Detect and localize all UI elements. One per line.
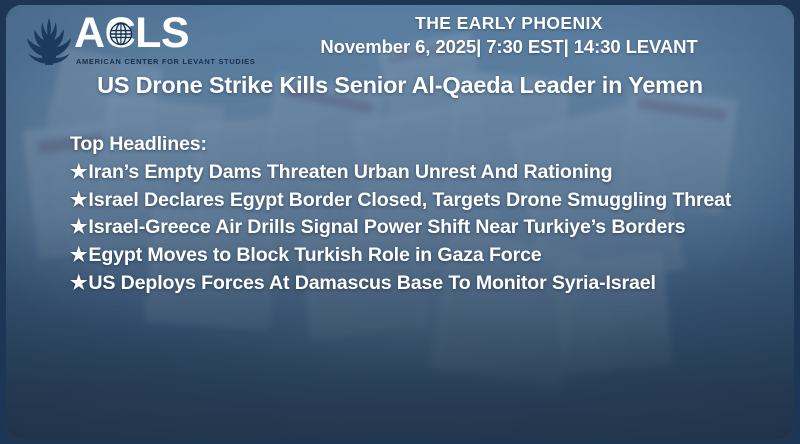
logo-letter-c-wrap: C xyxy=(105,12,136,55)
acls-tagline: AMERICAN CENTER FOR LEVANT STUDIES xyxy=(76,57,256,66)
headline-item[interactable]: ★Iran’s Empty Dams Threaten Urban Unrest… xyxy=(70,159,756,187)
phoenix-icon xyxy=(22,15,76,65)
headline-item[interactable]: ★Israel Declares Egypt Border Closed, Ta… xyxy=(70,187,756,215)
headline-item[interactable]: ★Israel-Greece Air Drills Signal Power S… xyxy=(70,214,756,242)
logo-letter-l: L xyxy=(135,9,161,57)
top-headlines-label: Top Headlines: xyxy=(70,131,756,159)
star-icon: ★ xyxy=(70,270,87,298)
top-headlines-list: Top Headlines: ★Iran’s Empty Dams Threat… xyxy=(70,131,756,298)
globe-icon xyxy=(109,23,132,46)
lead-headline: US Drone Strike Kills Senior Al-Qaeda Le… xyxy=(76,71,724,100)
star-icon: ★ xyxy=(70,214,87,242)
slide-frame: ACLS AMERICAN CENTER FOR LEVANT STUDIES … xyxy=(0,0,800,444)
star-icon: ★ xyxy=(70,187,87,215)
acls-wordmark: ACLS xyxy=(74,12,189,55)
headline-item-text: US Deploys Forces At Damascus Base To Mo… xyxy=(88,272,655,294)
headline-item[interactable]: ★US Deploys Forces At Damascus Base To M… xyxy=(70,270,756,298)
slide-canvas: ACLS AMERICAN CENTER FOR LEVANT STUDIES … xyxy=(6,5,794,440)
star-icon: ★ xyxy=(70,159,87,187)
headline-item[interactable]: ★Egypt Moves to Block Turkish Role in Ga… xyxy=(70,242,756,270)
headline-item-text: Israel Declares Egypt Border Closed, Tar… xyxy=(88,189,731,211)
star-icon: ★ xyxy=(70,242,87,270)
publication-dateline: November 6, 2025| 7:30 EST| 14:30 LEVANT xyxy=(234,36,784,57)
headline-item-text: Egypt Moves to Block Turkish Role in Gaz… xyxy=(88,244,541,266)
logo-letter-a: A xyxy=(74,9,105,57)
slide-content: ACLS AMERICAN CENTER FOR LEVANT STUDIES … xyxy=(6,5,794,440)
headline-item-text: Israel-Greece Air Drills Signal Power Sh… xyxy=(88,216,685,238)
masthead: THE EARLY PHOENIX November 6, 2025| 7:30… xyxy=(234,13,784,57)
headline-item-text: Iran’s Empty Dams Threaten Urban Unrest … xyxy=(88,161,612,183)
publication-title: THE EARLY PHOENIX xyxy=(234,13,784,34)
acls-logo[interactable]: ACLS AMERICAN CENTER FOR LEVANT STUDIES xyxy=(22,11,234,69)
logo-letter-s: S xyxy=(161,9,189,57)
